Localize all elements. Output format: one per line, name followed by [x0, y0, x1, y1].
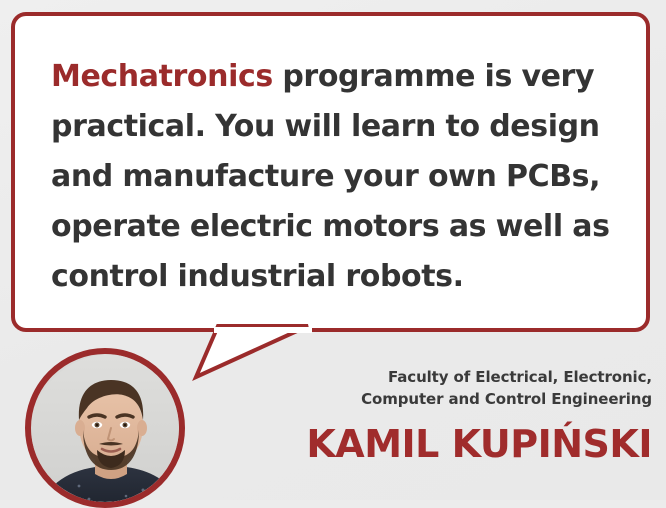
quote-text: Mechatronics programme is very practical…: [51, 52, 620, 302]
faculty-name: Faculty of Electrical, Electronic, Compu…: [232, 366, 652, 410]
avatar-photo: [31, 354, 179, 502]
quote-body: programme is very practical. You will le…: [51, 59, 610, 294]
person-name: KAMIL KUPIŃSKI: [232, 422, 652, 466]
quote-highlight: Mechatronics: [51, 59, 273, 94]
testimonial-card: Mechatronics programme is very practical…: [0, 0, 666, 500]
speech-bubble: Mechatronics programme is very practical…: [11, 12, 650, 332]
avatar: [25, 348, 185, 508]
portrait-icon: [31, 354, 179, 502]
person-info: Faculty of Electrical, Electronic, Compu…: [232, 366, 652, 466]
faculty-line-2: Computer and Control Engineering: [232, 388, 652, 410]
faculty-line-1: Faculty of Electrical, Electronic,: [232, 366, 652, 388]
